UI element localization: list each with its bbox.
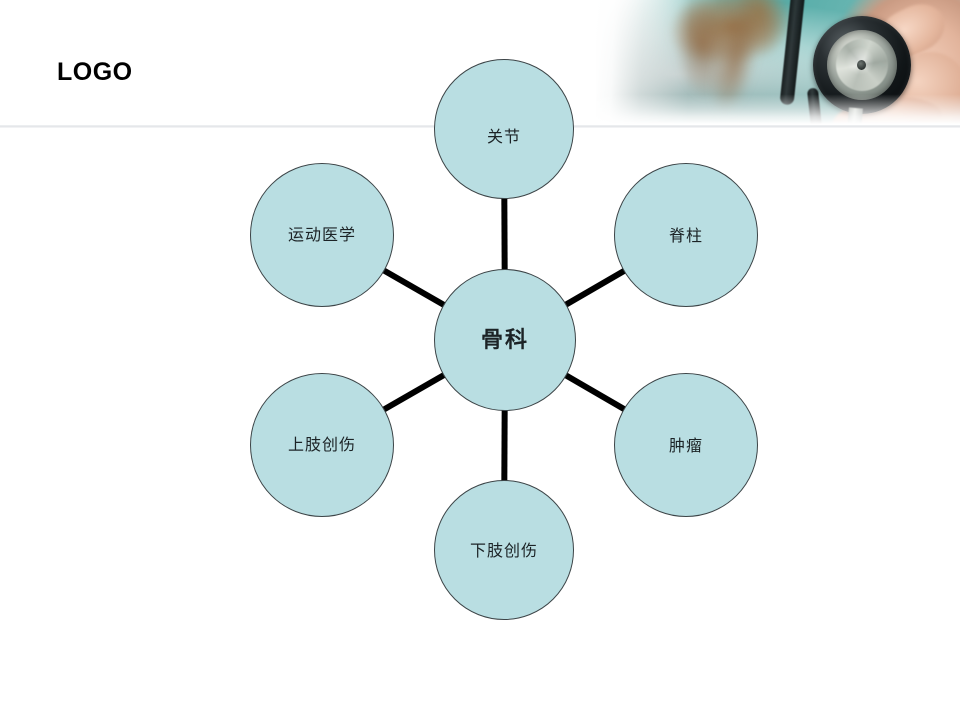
node-bottom-left[interactable]: 上肢创伤	[250, 373, 394, 517]
connector-center-to-bottom-left	[379, 372, 448, 412]
node-top-left[interactable]: 运动医学	[250, 163, 394, 307]
node-label-top-right: 脊柱	[669, 227, 703, 245]
node-center[interactable]: 骨科	[434, 269, 576, 411]
orthopedics-hub-diagram: 关节脊柱肿瘤下肢创伤上肢创伤运动医学骨科	[0, 0, 960, 720]
node-label-top-left: 运动医学	[288, 226, 356, 244]
slide-canvas: LOGO 关节脊柱肿瘤下肢创伤上肢创伤运动医学骨科	[0, 0, 960, 720]
node-top-right[interactable]: 脊柱	[614, 163, 758, 307]
connector-center-to-bottom-right	[561, 373, 629, 412]
node-label-top: 关节	[487, 128, 521, 146]
node-label-center: 骨科	[481, 328, 529, 352]
node-label-bottom-left: 上肢创伤	[288, 436, 356, 454]
node-top[interactable]: 关节	[434, 59, 574, 199]
node-bottom-right[interactable]: 肿瘤	[614, 373, 758, 517]
connector-center-to-top-left	[379, 268, 448, 308]
node-label-bottom-right: 肿瘤	[669, 437, 703, 455]
node-bottom[interactable]: 下肢创伤	[434, 480, 574, 620]
node-label-bottom: 下肢创伤	[470, 542, 538, 560]
connector-center-to-top-right	[561, 268, 629, 307]
